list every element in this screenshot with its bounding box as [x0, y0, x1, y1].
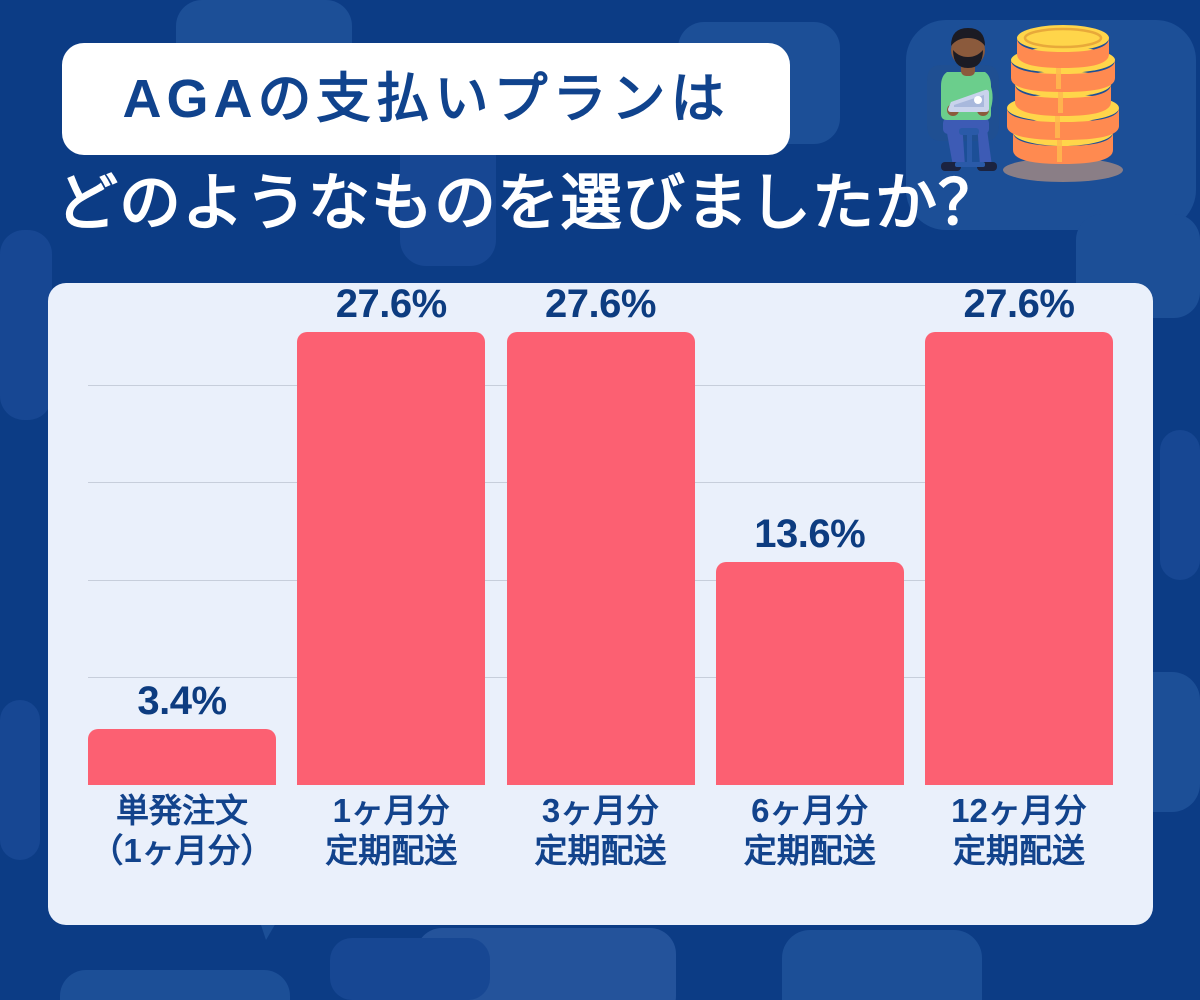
bar-category-line1: 6ヶ月分 — [751, 792, 868, 829]
bar-rect[interactable] — [925, 332, 1113, 785]
bar-column[interactable]: 3.4% — [88, 293, 276, 785]
bar-category-line2: 定期配送 — [716, 831, 904, 871]
coin-stack-icon — [1007, 25, 1119, 164]
bar-category-label: 単発注文 （1ヶ月分） — [88, 791, 276, 872]
bar-column[interactable]: 27.6% — [925, 293, 1113, 785]
decor-rounded-rect — [60, 970, 290, 1000]
chart-card: 3.4% 27.6% 27.6% 13.6% 27.6% 単発注文 — [48, 283, 1153, 925]
bar-category-line1: 12ヶ月分 — [951, 792, 1087, 829]
chart-bars: 3.4% 27.6% 27.6% 13.6% 27.6% — [88, 293, 1113, 785]
bar-category-line1: 1ヶ月分 — [333, 792, 450, 829]
bar-value-label: 27.6% — [297, 284, 485, 324]
bar-rect[interactable] — [297, 332, 485, 785]
bar-category-line2: 定期配送 — [507, 831, 695, 871]
bar-category-line2: （1ヶ月分） — [88, 831, 276, 871]
bar-value-label: 3.4% — [88, 681, 276, 721]
person-with-laptop-icon — [941, 28, 997, 171]
bar-category-line2: 定期配送 — [925, 831, 1113, 871]
decor-rounded-rect — [782, 930, 982, 1000]
bar-category-label: 12ヶ月分 定期配送 — [925, 791, 1113, 872]
bar-value-label: 27.6% — [925, 284, 1113, 324]
bar-column[interactable]: 13.6% — [716, 293, 904, 785]
bar-category-line1: 単発注文 — [116, 792, 248, 829]
chart-plot-area: 3.4% 27.6% 27.6% 13.6% 27.6% 単発注文 — [88, 293, 1113, 875]
title-badge: AGAの支払いプランは — [62, 43, 790, 155]
bar-value-label: 27.6% — [507, 284, 695, 324]
illustration-person-and-coins — [905, 10, 1195, 200]
decor-rounded-rect — [1160, 430, 1200, 580]
bar-rect[interactable] — [88, 729, 276, 785]
decor-rounded-rect — [330, 938, 490, 1000]
bar-column[interactable]: 27.6% — [297, 293, 485, 785]
chart-category-labels: 単発注文 （1ヶ月分） 1ヶ月分 定期配送 3ヶ月分 定期配送 6ヶ月分 定期配… — [88, 791, 1113, 872]
bar-category-label: 6ヶ月分 定期配送 — [716, 791, 904, 872]
bar-category-line2: 定期配送 — [297, 831, 485, 871]
bar-category-label: 3ヶ月分 定期配送 — [507, 791, 695, 872]
decor-speech-bubble — [416, 928, 676, 1000]
decor-rounded-rect — [0, 700, 40, 860]
bar-category-line1: 3ヶ月分 — [542, 792, 659, 829]
bar-rect[interactable] — [716, 562, 904, 785]
page-title: AGAの支払いプランは — [123, 72, 730, 126]
bar-rect[interactable] — [507, 332, 695, 785]
bar-category-label: 1ヶ月分 定期配送 — [297, 791, 485, 872]
bar-value-label: 13.6% — [716, 514, 904, 554]
bar-column[interactable]: 27.6% — [507, 293, 695, 785]
